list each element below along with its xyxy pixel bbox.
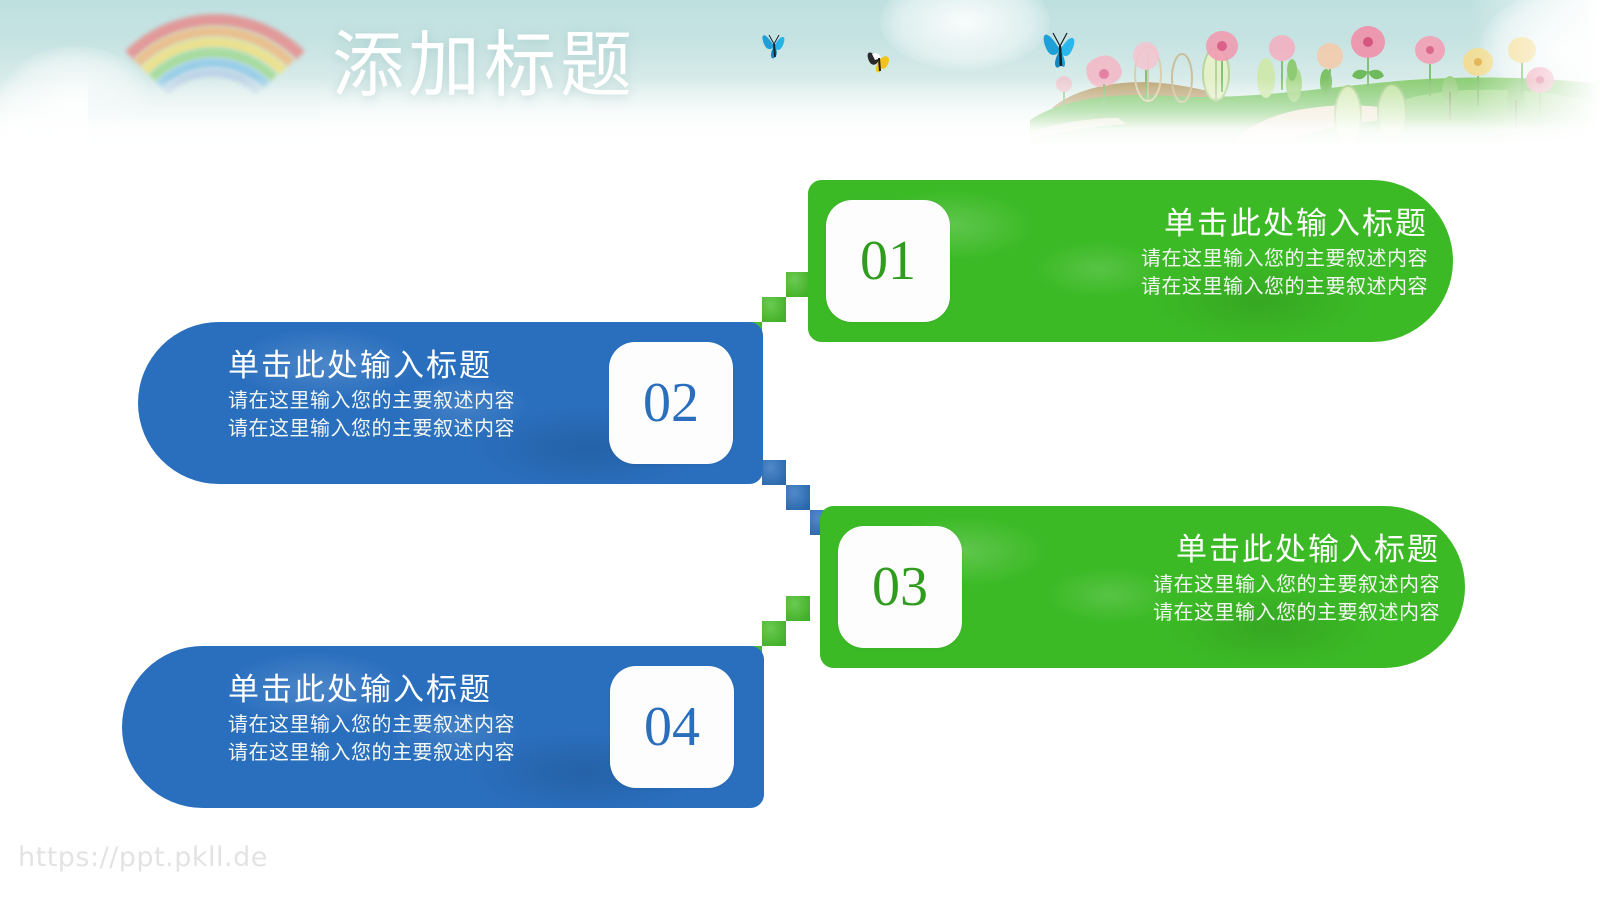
content-card-04[interactable]: 04 单击此处输入标题 请在这里输入您的主要叙述内容 请在这里输入您的主要叙述内… xyxy=(122,646,764,808)
connector-step-green-1 xyxy=(786,272,810,297)
connector-step-blue-1 xyxy=(762,460,786,485)
card-04-title: 单击此处输入标题 xyxy=(228,670,598,710)
card-03-title: 单击此处输入标题 xyxy=(1010,530,1440,570)
content-card-02[interactable]: 02 单击此处输入标题 请在这里输入您的主要叙述内容 请在这里输入您的主要叙述内… xyxy=(138,322,763,484)
card-02-number: 02 xyxy=(643,375,699,431)
card-01-line-1: 请在这里输入您的主要叙述内容 xyxy=(998,244,1428,272)
blue-butterfly-large-icon xyxy=(1038,20,1082,76)
card-02-title: 单击此处输入标题 xyxy=(228,346,598,386)
content-card-01[interactable]: 01 单击此处输入标题 请在这里输入您的主要叙述内容 请在这里输入您的主要叙述内… xyxy=(808,180,1453,342)
card-01-number-badge: 01 xyxy=(826,200,950,322)
card-03-line-2: 请在这里输入您的主要叙述内容 xyxy=(1010,598,1440,626)
content-card-03[interactable]: 03 单击此处输入标题 请在这里输入您的主要叙述内容 请在这里输入您的主要叙述内… xyxy=(820,506,1465,668)
card-01-text-block: 单击此处输入标题 请在这里输入您的主要叙述内容 请在这里输入您的主要叙述内容 xyxy=(998,204,1428,300)
yellow-butterfly-icon xyxy=(862,40,896,78)
blue-butterfly-small-icon xyxy=(758,24,790,64)
card-04-line-1: 请在这里输入您的主要叙述内容 xyxy=(228,710,598,738)
slide-header-banner xyxy=(0,0,1600,150)
card-04-number-badge: 04 xyxy=(610,666,734,788)
card-04-text-block: 单击此处输入标题 请在这里输入您的主要叙述内容 请在这里输入您的主要叙述内容 xyxy=(228,670,598,766)
cloud-center-icon xyxy=(880,0,1050,70)
card-02-text-block: 单击此处输入标题 请在这里输入您的主要叙述内容 请在这里输入您的主要叙述内容 xyxy=(228,346,598,442)
card-01-number: 01 xyxy=(860,233,916,289)
card-01-title: 单击此处输入标题 xyxy=(998,204,1428,244)
connector-step-green-4 xyxy=(786,596,810,621)
card-03-text-block: 单击此处输入标题 请在这里输入您的主要叙述内容 请在这里输入您的主要叙述内容 xyxy=(1010,530,1440,626)
watermark-url: https://ppt.pkll.de xyxy=(18,842,268,874)
connector-step-blue-2 xyxy=(786,485,810,510)
card-03-line-1: 请在这里输入您的主要叙述内容 xyxy=(1010,570,1440,598)
page-title: 添加标题 xyxy=(332,22,636,108)
card-02-line-2: 请在这里输入您的主要叙述内容 xyxy=(228,414,598,442)
connector-step-green-5 xyxy=(762,621,786,646)
card-03-number-badge: 03 xyxy=(838,526,962,648)
card-03-number: 03 xyxy=(872,559,928,615)
card-01-line-2: 请在这里输入您的主要叙述内容 xyxy=(998,272,1428,300)
card-04-line-2: 请在这里输入您的主要叙述内容 xyxy=(228,738,598,766)
card-04-number: 04 xyxy=(644,699,700,755)
card-02-line-1: 请在这里输入您的主要叙述内容 xyxy=(228,386,598,414)
card-02-number-badge: 02 xyxy=(609,342,733,464)
header-bottom-fade xyxy=(0,78,1600,150)
connector-step-green-2 xyxy=(762,297,786,322)
